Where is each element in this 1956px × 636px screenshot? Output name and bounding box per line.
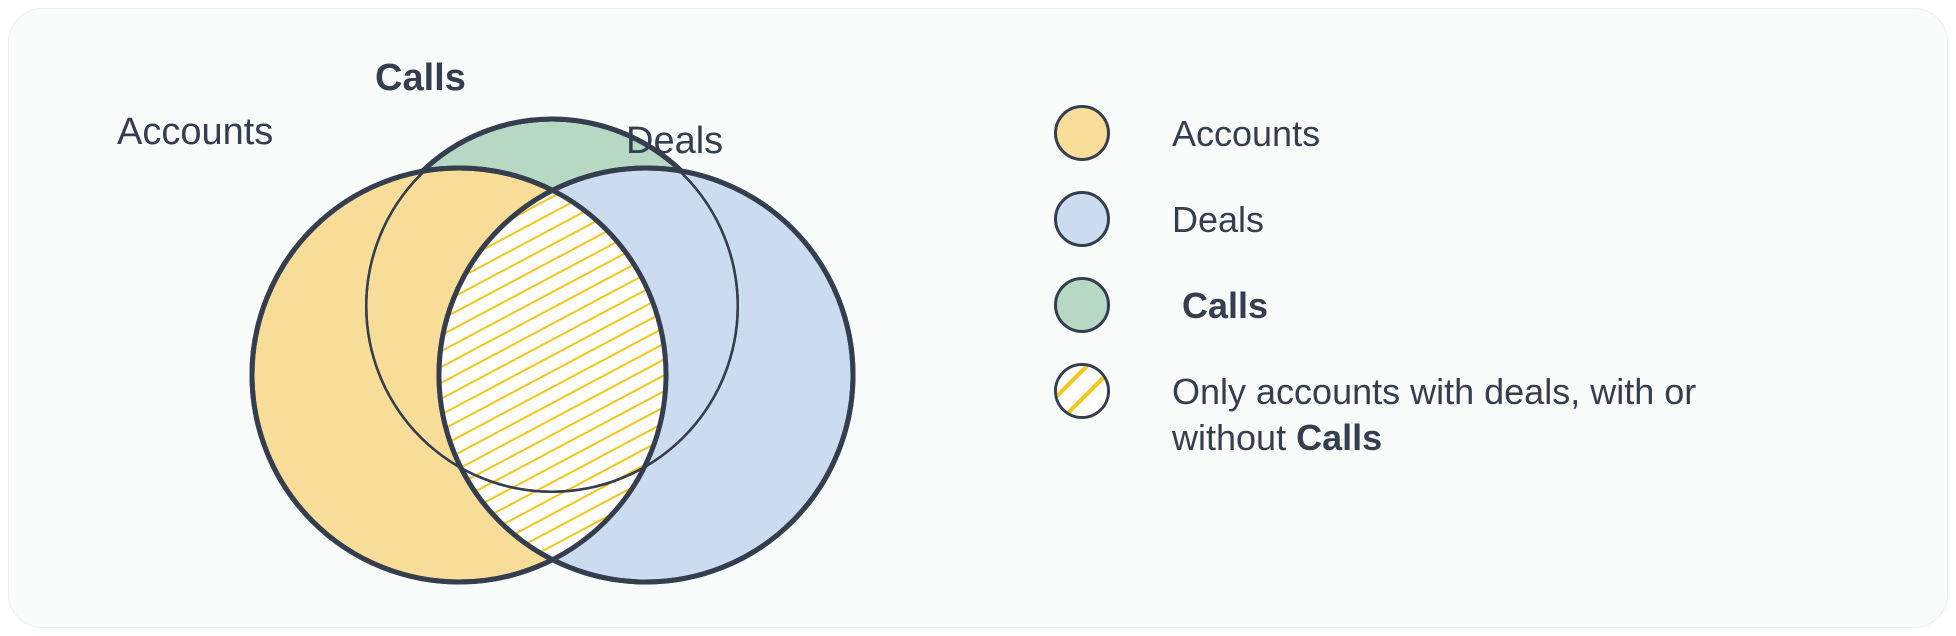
venn-label-calls: Calls	[375, 59, 466, 97]
venn-diagram: Accounts Deals Calls	[9, 9, 909, 628]
legend-item-deals: Deals	[1054, 191, 1814, 247]
venn-label-deals: Deals	[626, 122, 723, 160]
venn-svg	[9, 9, 909, 628]
legend-label-bold-suffix: Calls	[1296, 417, 1382, 458]
legend-item-accounts: Accounts	[1054, 105, 1814, 161]
deals-swatch-icon	[1054, 191, 1110, 247]
legend-item-only-accounts-with-deals: Only accounts with deals, with or withou…	[1054, 363, 1814, 461]
venn-diagram-panel: Accounts Deals Calls Accounts Deals Call…	[8, 8, 1948, 628]
screenshot-root: Accounts Deals Calls Accounts Deals Call…	[0, 0, 1956, 636]
legend-label-calls: Calls	[1172, 277, 1268, 329]
legend-label-only-accounts-with-deals: Only accounts with deals, with or withou…	[1172, 363, 1812, 461]
calls-swatch-icon	[1054, 277, 1110, 333]
legend-label-prefix: Only accounts with deals, with or withou…	[1172, 371, 1696, 458]
accounts-swatch-icon	[1054, 105, 1110, 161]
hatch-swatch-svg	[1054, 363, 1110, 419]
legend-label-accounts: Accounts	[1172, 105, 1320, 157]
venn-label-accounts: Accounts	[117, 113, 273, 151]
legend: Accounts Deals Calls	[1054, 105, 1814, 461]
hatch-swatch-icon	[1054, 363, 1110, 419]
legend-item-calls: Calls	[1054, 277, 1814, 333]
legend-label-deals: Deals	[1172, 191, 1264, 243]
